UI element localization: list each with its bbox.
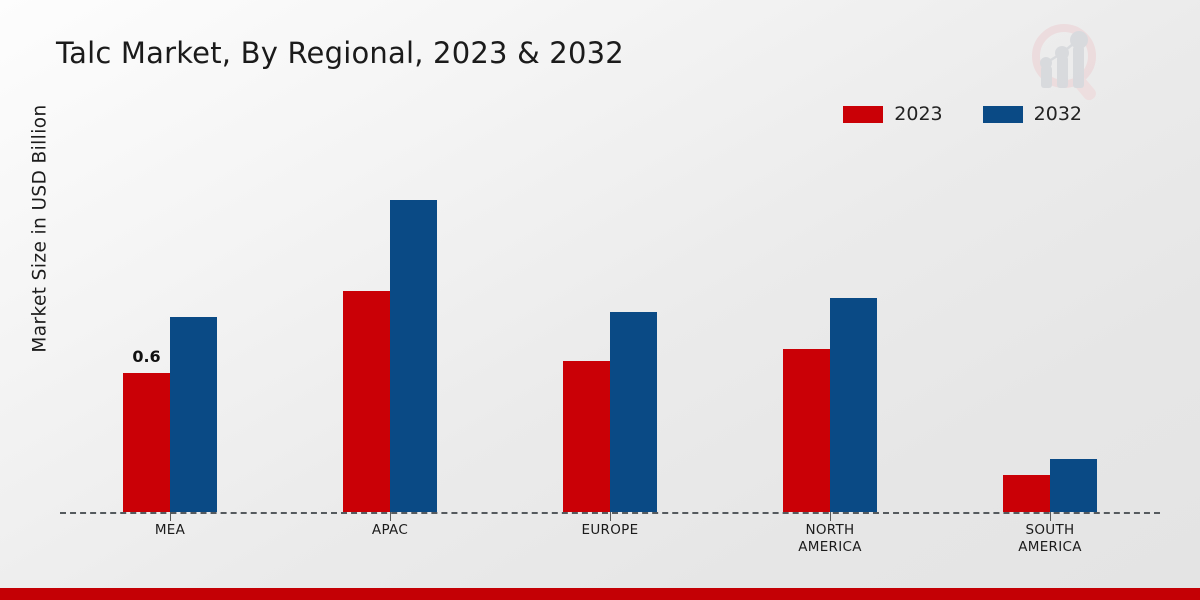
x-axis-label-line: AMERICA — [720, 539, 940, 556]
plot-area: 0.6MEAAPACEUROPENORTHAMERICASOUTHAMERICA — [60, 140, 1160, 512]
chart-container: Talc Market, By Regional, 2023 & 2032 20… — [0, 0, 1200, 600]
bar-south-america-2032[interactable] — [1050, 459, 1097, 512]
bar-south-america-2023[interactable] — [1003, 475, 1050, 512]
x-axis-label-line: SOUTH — [940, 522, 1160, 539]
watermark-logo-icon — [1020, 18, 1112, 104]
x-axis-label-line: APAC — [280, 522, 500, 539]
legend-item-2023[interactable]: 2023 — [843, 103, 942, 125]
legend-swatch-2032 — [983, 106, 1023, 123]
x-axis-line — [60, 512, 1160, 514]
bar-apac-2023[interactable] — [343, 291, 390, 512]
x-axis-label-apac: APAC — [280, 522, 500, 539]
bottom-accent-strip — [0, 588, 1200, 600]
bar-mea-2032[interactable] — [170, 317, 217, 512]
bar-group: SOUTHAMERICA — [940, 140, 1160, 512]
x-axis-label-line: EUROPE — [500, 522, 720, 539]
bar-group: NORTHAMERICA — [720, 140, 940, 512]
bar-pair: 0.6 — [123, 317, 217, 512]
bar-group: APAC — [280, 140, 500, 512]
x-axis-label-mea: MEA — [60, 522, 280, 539]
bar-pair — [563, 312, 657, 512]
bar-group: EUROPE — [500, 140, 720, 512]
bar-pair — [783, 298, 877, 512]
legend-item-2032[interactable]: 2032 — [983, 103, 1082, 125]
x-axis-label-line: NORTH — [720, 522, 940, 539]
x-axis-label-europe: EUROPE — [500, 522, 720, 539]
bar-pair — [343, 200, 437, 512]
chart-title: Talc Market, By Regional, 2023 & 2032 — [56, 36, 624, 70]
x-axis-label-line: AMERICA — [940, 539, 1160, 556]
bar-europe-2023[interactable] — [563, 361, 610, 512]
y-axis-title: Market Size in USD Billion — [30, 59, 51, 399]
bar-group: 0.6MEA — [60, 140, 280, 512]
chart-legend: 2023 2032 — [843, 103, 1082, 125]
legend-label-2023: 2023 — [894, 103, 942, 125]
bar-pair — [1003, 459, 1097, 512]
legend-swatch-2023 — [843, 106, 883, 123]
x-axis-label-south-america: SOUTHAMERICA — [940, 522, 1160, 556]
x-axis-label-line: MEA — [60, 522, 280, 539]
bar-europe-2032[interactable] — [610, 312, 657, 512]
bar-apac-2032[interactable] — [390, 200, 437, 512]
x-axis-label-north-america: NORTHAMERICA — [720, 522, 940, 556]
bar-value-label: 0.6 — [132, 347, 160, 366]
bar-mea-2023[interactable]: 0.6 — [123, 373, 170, 513]
legend-label-2032: 2032 — [1034, 103, 1082, 125]
bar-groups: 0.6MEAAPACEUROPENORTHAMERICASOUTHAMERICA — [60, 140, 1160, 512]
bar-north-america-2032[interactable] — [830, 298, 877, 512]
bar-north-america-2023[interactable] — [783, 349, 830, 512]
